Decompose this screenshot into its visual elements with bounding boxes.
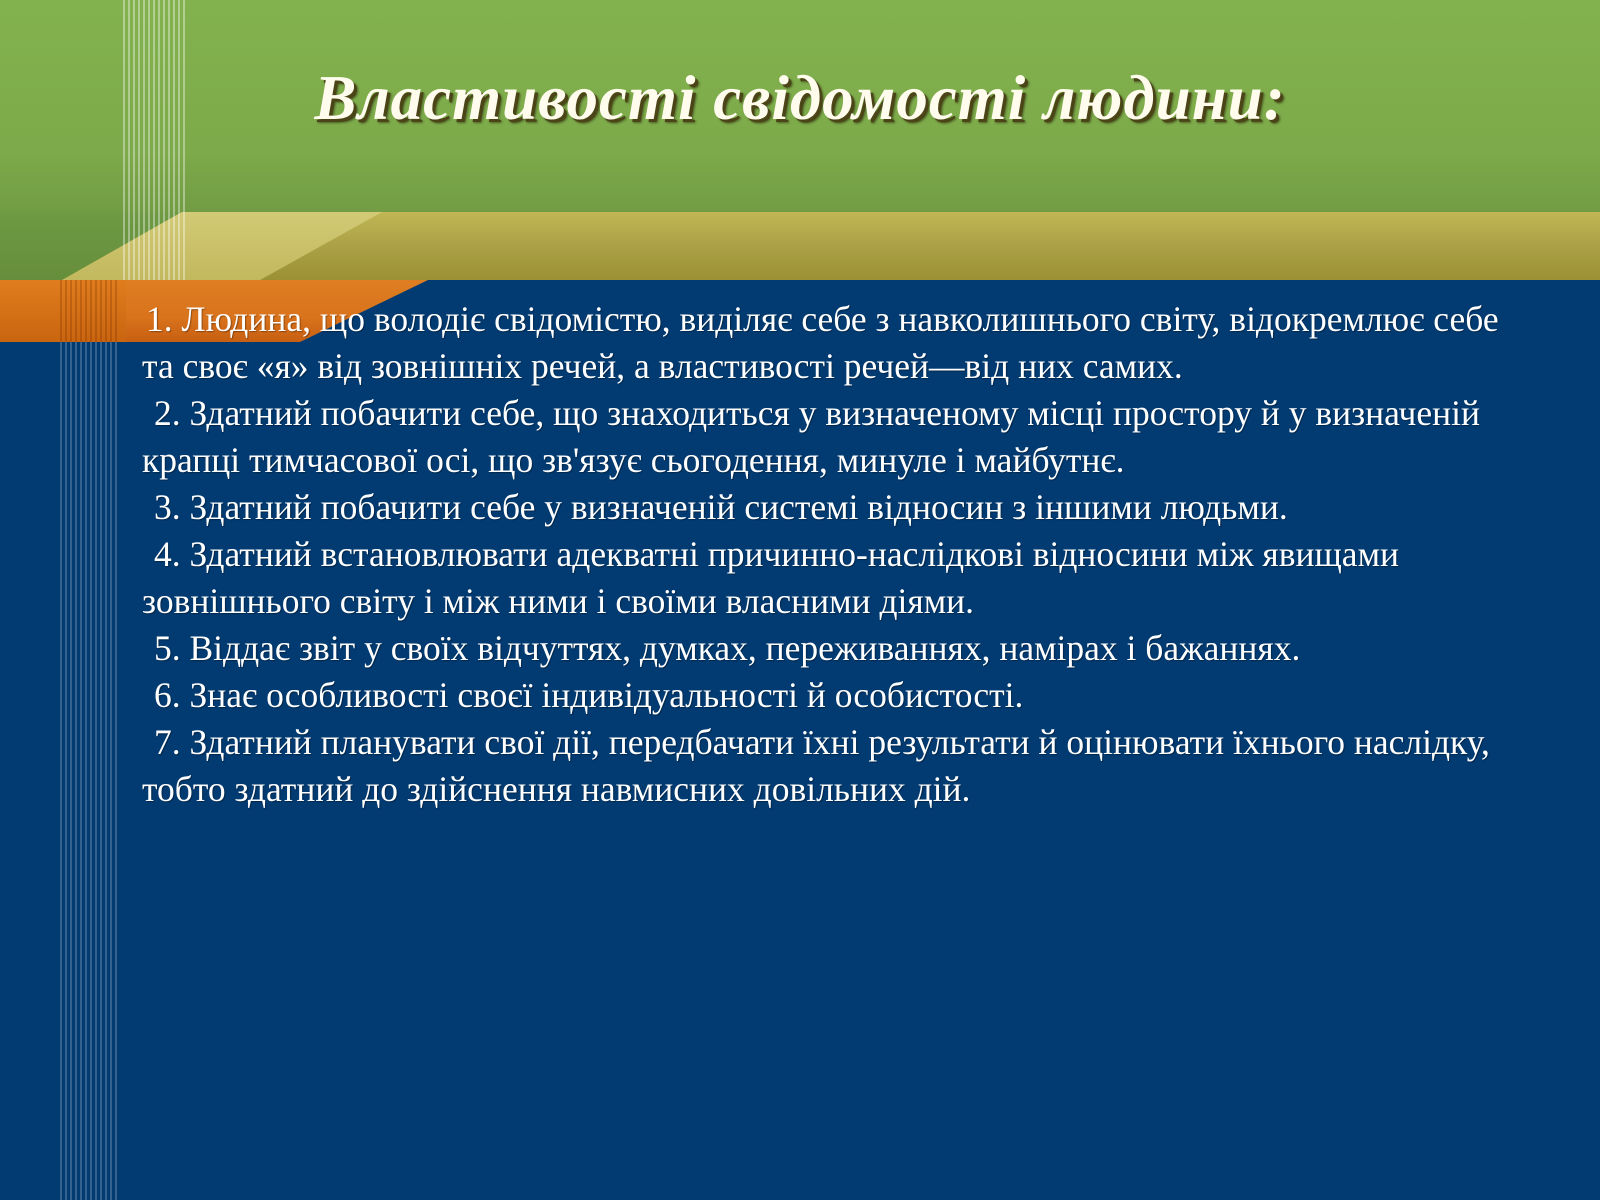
body-paragraph-1: 1. Людина, що володіє свідомістю, виділя…: [142, 296, 1502, 390]
pinstripe-decoration-body: [57, 342, 119, 1200]
body-paragraph-5: 5. Віддає звіт у своїх відчуттях, думках…: [142, 625, 1502, 672]
presentation-slide: Властивості свідомості людини: 1. Людина…: [0, 0, 1600, 1200]
slide-body: 1. Людина, що володіє свідомістю, виділя…: [142, 296, 1502, 1196]
slide-title: Властивості свідомості людини:: [314, 62, 1285, 135]
body-paragraph-7: 7. Здатний планувати свої дії, передбача…: [142, 719, 1502, 813]
orange-accent-band-left: [0, 280, 126, 342]
body-paragraph-6: 6. Знає особливості своєї індивідуальнос…: [142, 672, 1502, 719]
body-paragraph-4: 4. Здатний встановлювати адекватні причи…: [142, 531, 1502, 625]
body-paragraph-2: 2. Здатний побачити себе, що знаходиться…: [142, 390, 1502, 484]
slide-title-container: Властивості свідомості людини:: [0, 62, 1600, 135]
body-paragraph-3: 3. Здатний побачити себе у визначеній си…: [142, 484, 1502, 531]
